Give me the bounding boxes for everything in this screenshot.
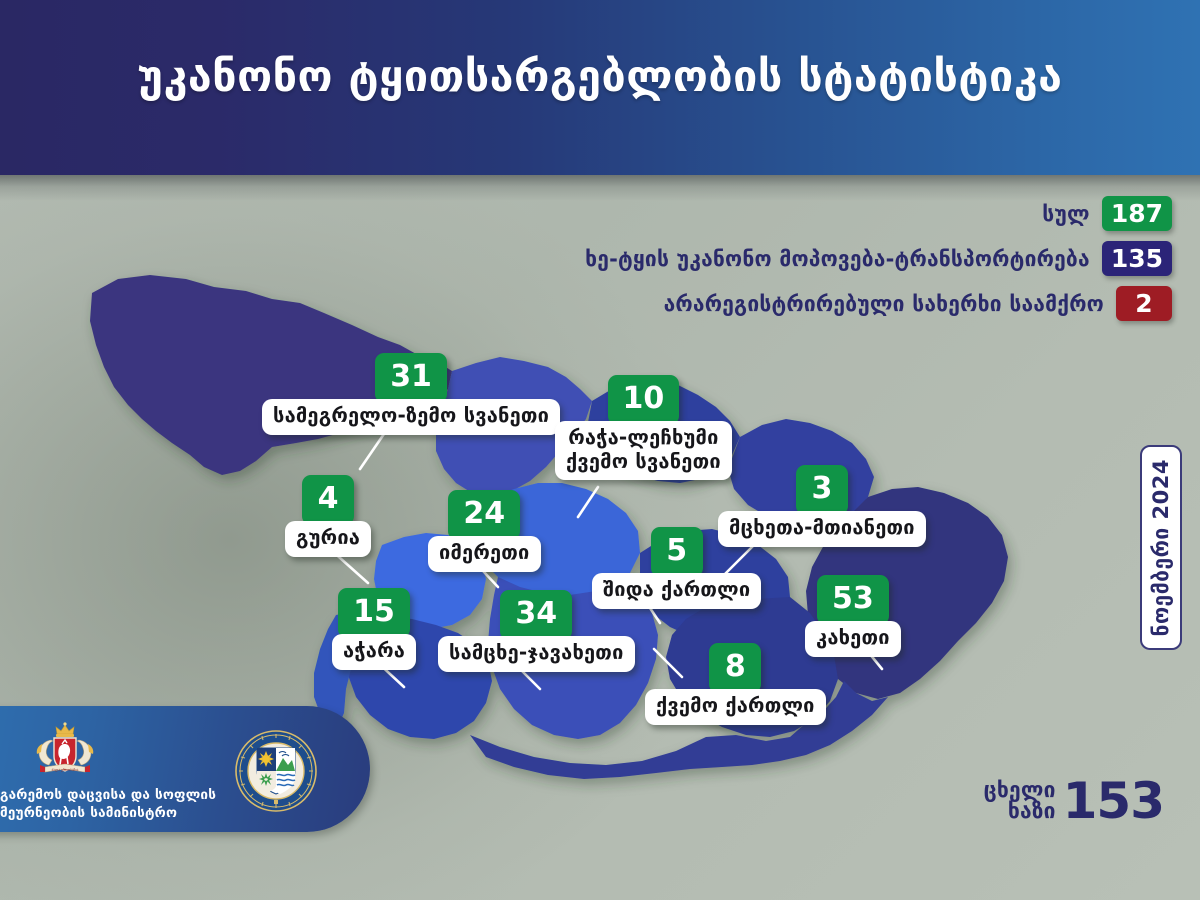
marker-guria[interactable]: 4 გურია: [285, 475, 371, 557]
hotline: ცხელი ხაზი 153: [984, 778, 1164, 824]
legend-chip-illegal-logging: 135: [1102, 241, 1172, 276]
name-plate-imereti: იმერეთი: [428, 536, 541, 572]
marker-racha-lechkhumi[interactable]: 10 რაჭა-ლეჩხუმი ქვემო სვანეთი: [555, 375, 732, 480]
marker-samtskhe-javakheti[interactable]: 34 სამცხე-ჯავახეთი: [438, 590, 635, 672]
marker-samegrelo-zemo-svaneti[interactable]: 31 სამეგრელო-ზემო სვანეთი: [262, 353, 560, 435]
name-plate-kvemo-kartli: ქვემო ქართლი: [645, 689, 826, 725]
marker-kvemo-kartli[interactable]: 8 ქვემო ქართლი: [645, 643, 826, 725]
name-plate-samtskhe-javakheti: სამცხე-ჯავახეთი: [438, 636, 635, 672]
ministry-name: გარემოს დაცვისა და სოფლის მეურნეობის სამ…: [0, 786, 230, 822]
ministry-bar: ძალა ერთობაშია გარემოს დაცვისა და სოფლის…: [0, 706, 370, 832]
legend: სულ 187 ხე-ტყის უკანონო მოპოვება-ტრანსპო…: [585, 196, 1172, 321]
hotline-number: 153: [1063, 778, 1164, 824]
date-text: ნოემბერი 2024: [1149, 459, 1173, 636]
name-plate-racha-lechkhumi: რაჭა-ლეჩხუმი ქვემო სვანეთი: [555, 421, 732, 480]
value-badge-racha-lechkhumi: 10: [608, 375, 680, 425]
legend-label-unregistered-sawmill: არარეგისტრირებული სახერხი საამქრო: [664, 292, 1104, 316]
value-badge-samegrelo-zemo-svaneti: 31: [375, 353, 447, 403]
date-box: ნოემბერი 2024: [1140, 445, 1182, 650]
value-badge-samtskhe-javakheti: 34: [500, 590, 572, 640]
value-badge-kvemo-kartli: 8: [709, 643, 761, 693]
svg-text:ძალა ერთობაშია: ძალა ერთობაშია: [52, 768, 79, 772]
value-badge-adjara: 15: [338, 588, 410, 638]
legend-chip-total: 187: [1102, 196, 1172, 231]
value-badge-mtskheta-mtianeti: 3: [796, 465, 848, 515]
header-banner: უკანონო ტყითსარგებლობის სტატისტიკა: [0, 0, 1200, 175]
value-badge-guria: 4: [302, 475, 354, 525]
page-title: უკანონო ტყითსარგებლობის სტატისტიკა: [0, 52, 1200, 102]
legend-row-total: სულ 187: [1042, 196, 1172, 231]
legend-row-unregistered-sawmill: არარეგისტრირებული სახერხი საამქრო 2: [664, 286, 1172, 321]
hotline-label: ცხელი ხაზი: [984, 780, 1056, 822]
value-badge-imereti: 24: [448, 490, 520, 540]
legend-label-illegal-logging: ხე-ტყის უკანონო მოპოვება-ტრანსპორტირება: [585, 247, 1090, 271]
georgia-coat-of-arms-icon: ძალა ერთობაშია: [32, 722, 98, 780]
name-plate-adjara: აჭარა: [332, 634, 416, 670]
name-plate-samegrelo-zemo-svaneti: სამეგრელო-ზემო სვანეთი: [262, 399, 560, 435]
marker-adjara[interactable]: 15 აჭარა: [332, 588, 416, 670]
legend-label-total: სულ: [1042, 202, 1090, 226]
marker-imereti[interactable]: 24 იმერეთი: [428, 490, 541, 572]
value-badge-shida-kartli: 5: [651, 527, 703, 577]
legend-row-illegal-logging: ხე-ტყის უკანონო მოპოვება-ტრანსპორტირება …: [585, 241, 1172, 276]
value-badge-kakheti: 53: [817, 575, 889, 625]
name-plate-guria: გურია: [285, 521, 371, 557]
ministry-seal-icon: [235, 730, 317, 812]
legend-chip-unregistered-sawmill: 2: [1116, 286, 1172, 321]
